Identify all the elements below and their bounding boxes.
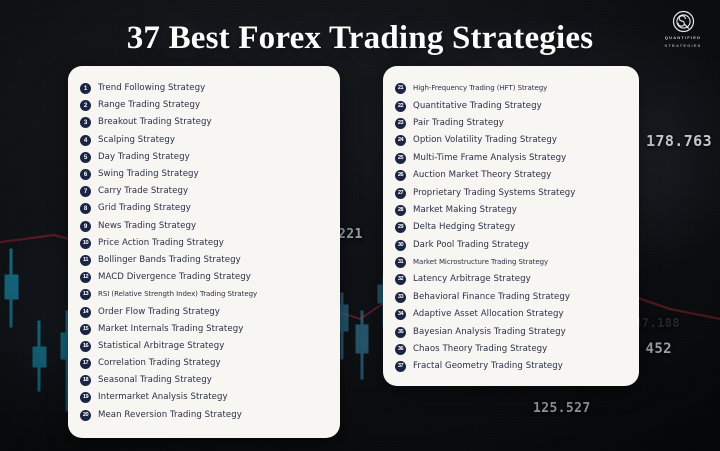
list-item-number-badge: 16 <box>80 341 91 352</box>
list-item-number-badge: 34 <box>395 309 406 320</box>
list-item-label: Proprietary Trading Systems Strategy <box>413 188 575 199</box>
list-item-number-badge: 15 <box>80 324 91 335</box>
list-item-label: News Trading Strategy <box>98 221 196 232</box>
list-item-label: Market Microstructure Trading Strategy <box>413 257 548 268</box>
list-item-number-badge: 21 <box>395 83 406 94</box>
list-item-number-badge: 13 <box>80 289 91 300</box>
list-item-number-badge: 6 <box>80 169 91 180</box>
list-item-label: Pair Trading Strategy <box>413 118 504 129</box>
strategy-list-left: 1Trend Following Strategy2Range Trading … <box>80 80 330 424</box>
list-item-label: Latency Arbitrage Strategy <box>413 274 531 285</box>
list-item-number-badge: 12 <box>80 272 91 283</box>
list-item: 6Swing Trading Strategy <box>80 166 330 183</box>
list-item-number-badge: 30 <box>395 240 406 251</box>
list-item-label: High-Frequency Trading (HFT) Strategy <box>413 83 547 94</box>
list-item-number-badge: 24 <box>395 135 406 146</box>
list-item: 26Auction Market Theory Strategy <box>395 167 629 184</box>
strategy-list-right: 21High-Frequency Trading (HFT) Strategy2… <box>395 80 629 376</box>
list-item: 28Market Making Strategy <box>395 202 629 219</box>
list-item-label: Market Making Strategy <box>413 205 517 216</box>
list-item: 1Trend Following Strategy <box>80 80 330 97</box>
list-item-number-badge: 26 <box>395 170 406 181</box>
list-item: 36Chaos Theory Trading Strategy <box>395 341 629 358</box>
list-item-label: Day Trading Strategy <box>98 152 190 163</box>
list-item-number-badge: 10 <box>80 238 91 249</box>
list-item: 13RSI (Relative Strength Index) Trading … <box>80 286 330 303</box>
list-item-number-badge: 1 <box>80 83 91 94</box>
list-item: 37Fractal Geometry Trading Strategy <box>395 358 629 375</box>
list-item-number-badge: 22 <box>395 101 406 112</box>
list-item-number-badge: 25 <box>395 153 406 164</box>
list-item: 5Day Trading Strategy <box>80 149 330 166</box>
list-item: 2Range Trading Strategy <box>80 97 330 114</box>
list-item: 8Grid Trading Strategy <box>80 200 330 217</box>
list-item: 31Market Microstructure Trading Strategy <box>395 254 629 271</box>
list-item-label: RSI (Relative Strength Index) Trading St… <box>98 289 257 300</box>
list-item-number-badge: 19 <box>80 392 91 403</box>
list-item: 17Correlation Trading Strategy <box>80 355 330 372</box>
list-item-label: Chaos Theory Trading Strategy <box>413 344 547 355</box>
list-item-label: Trend Following Strategy <box>98 83 205 94</box>
list-item-label: Price Action Trading Strategy <box>98 238 224 249</box>
list-item: 16Statistical Arbitrage Strategy <box>80 338 330 355</box>
list-item-number-badge: 17 <box>80 358 91 369</box>
list-item-label: Scalping Strategy <box>98 135 175 146</box>
list-item: 25Multi-Time Frame Analysis Strategy <box>395 150 629 167</box>
list-item-number-badge: 7 <box>80 186 91 197</box>
list-item: 14Order Flow Trading Strategy <box>80 303 330 320</box>
list-item-label: Delta Hedging Strategy <box>413 222 515 233</box>
list-item: 24Option Volatility Trading Strategy <box>395 132 629 149</box>
list-item-label: Fractal Geometry Trading Strategy <box>413 361 563 372</box>
list-item: 9News Trading Strategy <box>80 218 330 235</box>
price-label-right-mid: 452 <box>646 341 673 357</box>
list-item: 11Bollinger Bands Trading Strategy <box>80 252 330 269</box>
list-item: 18Seasonal Trading Strategy <box>80 372 330 389</box>
list-item: 3Breakout Trading Strategy <box>80 114 330 131</box>
list-item-number-badge: 36 <box>395 344 406 355</box>
list-item: 23Pair Trading Strategy <box>395 115 629 132</box>
list-item: 19Intermarket Analysis Strategy <box>80 389 330 406</box>
list-item-number-badge: 9 <box>80 221 91 232</box>
list-item: 22Quantitative Trading Strategy <box>395 97 629 114</box>
list-item-label: Seasonal Trading Strategy <box>98 375 212 386</box>
list-item-number-badge: 20 <box>80 410 91 421</box>
list-item: 35Bayesian Analysis Trading Strategy <box>395 323 629 340</box>
strategy-card-left: 1Trend Following Strategy2Range Trading … <box>68 66 340 438</box>
list-item-number-badge: 31 <box>395 257 406 268</box>
list-item-label: Intermarket Analysis Strategy <box>98 392 228 403</box>
list-item: 12MACD Divergence Trading Strategy <box>80 269 330 286</box>
list-item-label: Grid Trading Strategy <box>98 203 191 214</box>
list-item-label: Correlation Trading Strategy <box>98 358 221 369</box>
list-item-label: Bollinger Bands Trading Strategy <box>98 255 241 266</box>
list-item: 4Scalping Strategy <box>80 132 330 149</box>
list-item: 21High-Frequency Trading (HFT) Strategy <box>395 80 629 97</box>
list-item-number-badge: 4 <box>80 135 91 146</box>
page-title: 37 Best Forex Trading Strategies <box>0 18 720 58</box>
list-item-label: Quantitative Trading Strategy <box>413 101 542 112</box>
list-item-label: Breakout Trading Strategy <box>98 117 212 128</box>
list-item: 29Delta Hedging Strategy <box>395 219 629 236</box>
list-item-number-badge: 27 <box>395 188 406 199</box>
list-item-number-badge: 23 <box>395 118 406 129</box>
list-item: 27Proprietary Trading Systems Strategy <box>395 184 629 201</box>
list-item-number-badge: 14 <box>80 307 91 318</box>
list-item-label: MACD Divergence Trading Strategy <box>98 272 251 283</box>
list-item-number-badge: 29 <box>395 222 406 233</box>
price-label-center-left: 221 <box>338 227 363 242</box>
list-item-number-badge: 8 <box>80 203 91 214</box>
list-item-label: Market Internals Trading Strategy <box>98 324 243 335</box>
list-item: 30Dark Pool Trading Strategy <box>395 237 629 254</box>
price-label-right-top: 178.763 <box>646 132 712 150</box>
list-item-number-badge: 33 <box>395 292 406 303</box>
list-item-number-badge: 5 <box>80 152 91 163</box>
list-item-number-badge: 2 <box>80 100 91 111</box>
list-item-label: Behavioral Finance Trading Strategy <box>413 292 570 303</box>
list-item-label: Option Volatility Trading Strategy <box>413 135 557 146</box>
list-item-label: Bayesian Analysis Trading Strategy <box>413 327 566 338</box>
list-item-number-badge: 18 <box>80 375 91 386</box>
list-item: 20Mean Reversion Trading Strategy <box>80 407 330 424</box>
list-item: 34Adaptive Asset Allocation Strategy <box>395 306 629 323</box>
list-item-label: Auction Market Theory Strategy <box>413 170 551 181</box>
list-item: 33Behavioral Finance Trading Strategy <box>395 289 629 306</box>
list-item-label: Mean Reversion Trading Strategy <box>98 410 242 421</box>
list-item-label: Adaptive Asset Allocation Strategy <box>413 309 564 320</box>
price-label-bottom-center: 125.527 <box>533 401 591 416</box>
list-item-label: Swing Trading Strategy <box>98 169 199 180</box>
strategy-card-right: 21High-Frequency Trading (HFT) Strategy2… <box>383 66 639 386</box>
list-item-label: Range Trading Strategy <box>98 100 200 111</box>
list-item: 15Market Internals Trading Strategy <box>80 321 330 338</box>
list-item: 7Carry Trade Strategy <box>80 183 330 200</box>
list-item-number-badge: 37 <box>395 361 406 372</box>
list-item-number-badge: 3 <box>80 117 91 128</box>
list-item-number-badge: 32 <box>395 274 406 285</box>
list-item-number-badge: 28 <box>395 205 406 216</box>
list-item-label: Carry Trade Strategy <box>98 186 188 197</box>
list-item-number-badge: 11 <box>80 255 91 266</box>
poster-canvas: 147.188 178.763 452 125.527 221 QUANTIFI… <box>0 0 720 451</box>
list-item-number-badge: 35 <box>395 327 406 338</box>
list-item-label: Multi-Time Frame Analysis Strategy <box>413 153 566 164</box>
list-item: 32Latency Arbitrage Strategy <box>395 271 629 288</box>
list-item-label: Order Flow Trading Strategy <box>98 307 220 318</box>
list-item: 10Price Action Trading Strategy <box>80 235 330 252</box>
list-item-label: Statistical Arbitrage Strategy <box>98 341 224 352</box>
list-item-label: Dark Pool Trading Strategy <box>413 240 529 251</box>
